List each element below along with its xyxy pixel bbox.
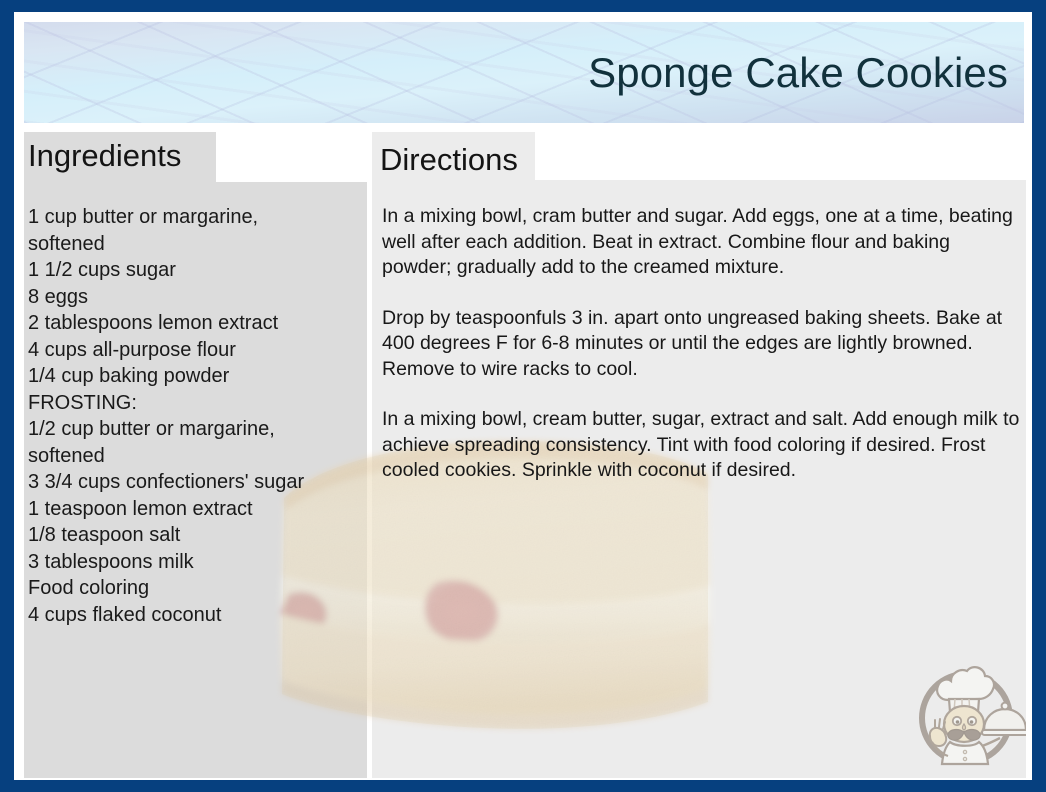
- ingredient-item: 1 cup butter or margarine, softened: [28, 204, 358, 257]
- ingredient-item: 2 tablespoons lemon extract: [28, 310, 358, 337]
- ingredient-item: 1/8 teaspoon salt: [28, 522, 358, 549]
- recipe-card: Sponge Cake Cookies Ingredients 1 cup bu…: [0, 0, 1046, 792]
- title-banner: Sponge Cake Cookies: [24, 22, 1024, 123]
- ingredients-list: 1 cup butter or margarine, softened1 1/2…: [28, 204, 358, 628]
- directions-body: In a mixing bowl, cram butter and sugar.…: [382, 204, 1022, 509]
- ingredient-item: 4 cups flaked coconut: [28, 602, 358, 629]
- ingredient-item: 1/4 cup baking powder: [28, 363, 358, 390]
- direction-paragraph: In a mixing bowl, cram butter and sugar.…: [382, 204, 1022, 281]
- ingredient-item: 3 3/4 cups confectioners' sugar: [28, 469, 358, 496]
- direction-paragraph: Drop by teaspoonfuls 3 in. apart onto un…: [382, 306, 1022, 383]
- ingredient-item: 4 cups all-purpose flour: [28, 337, 358, 364]
- directions-heading: Directions: [380, 142, 518, 178]
- page-title: Sponge Cake Cookies: [588, 49, 1008, 97]
- chef-mascot-logo: [906, 654, 1026, 772]
- ingredient-item: 3 tablespoons milk: [28, 549, 358, 576]
- ingredient-item: FROSTING:: [28, 390, 358, 417]
- recipe-page: Sponge Cake Cookies Ingredients 1 cup bu…: [14, 12, 1032, 780]
- ingredients-heading: Ingredients: [28, 138, 181, 174]
- ingredient-item: Food coloring: [28, 575, 358, 602]
- ingredient-item: 1/2 cup butter or margarine, softened: [28, 416, 358, 469]
- ingredient-item: 1 teaspoon lemon extract: [28, 496, 358, 523]
- direction-paragraph: In a mixing bowl, cream butter, sugar, e…: [382, 407, 1022, 484]
- ingredient-item: 8 eggs: [28, 284, 358, 311]
- ingredient-item: 1 1/2 cups sugar: [28, 257, 358, 284]
